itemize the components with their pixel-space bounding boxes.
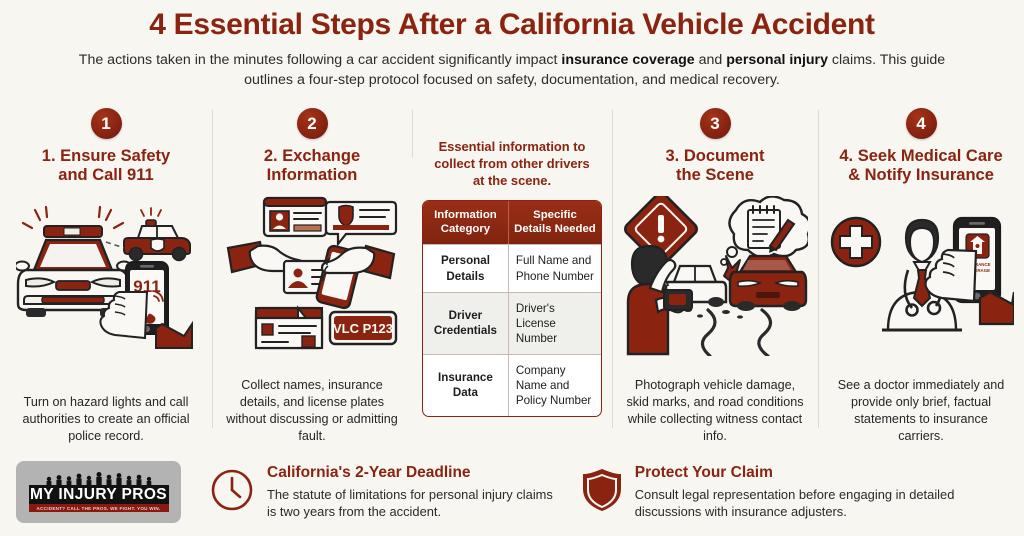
step-title-3-line1: 3. Document [665, 147, 764, 166]
info-table-header-row: Information Category Specific Details Ne… [423, 201, 601, 244]
info-table-header-category: Information Category [423, 201, 509, 244]
info-table-body: Personal Details Full Name and Phone Num… [423, 244, 601, 416]
footer-item-protect-claim: Protect Your Claim Consult legal represe… [581, 464, 1008, 520]
footer-deadline-body: The statute of limitations for personal … [267, 486, 559, 521]
step-title-1-line2: and Call 911 [42, 166, 170, 185]
table-intro-line2: collect from other drivers [434, 155, 589, 172]
step-title-2-line1: 2. Exchange [264, 147, 360, 166]
step-1-illustration: 911 [16, 196, 196, 356]
step-number-badge-4: 4 [906, 108, 937, 139]
id-card-icon [264, 198, 326, 236]
red-car-icon [730, 256, 806, 311]
person-photographing-icon [628, 246, 692, 354]
license-plate-icon: VLC P123 [330, 312, 396, 344]
header-details-line2: Details Needed [513, 223, 597, 237]
medical-cross-icon [832, 218, 880, 266]
step-caption-3: Photograph vehicle damage, skid marks, a… [622, 377, 808, 446]
clock-icon [209, 467, 255, 518]
table-intro: Essential information to collect from ot… [434, 138, 589, 189]
step-column-1: 1 1. Ensure Safety and Call 911 [0, 104, 212, 449]
shield-icon [581, 467, 623, 518]
insurance-card-icon [326, 202, 396, 244]
footer-deadline-text: California's 2-Year Deadline The statute… [267, 464, 559, 520]
info-table-header-details: Specific Details Needed [509, 201, 601, 244]
row-details: Company Name and Policy Number [509, 354, 601, 416]
subtitle-bold-personal-injury: personal injury [726, 52, 828, 68]
table-intro-line3: at the scene. [434, 172, 589, 189]
footer-protect-heading: Protect Your Claim [635, 464, 1008, 483]
police-car-icon [124, 208, 190, 261]
signal-dashes [106, 242, 124, 248]
step-title-1: 1. Ensure Safety and Call 911 [42, 147, 170, 186]
step-3-illustration [622, 196, 808, 361]
step-caption-1: Turn on hazard lights and call authoriti… [10, 394, 202, 445]
infographic-page: 4 Essential Steps After a California Veh… [0, 0, 1024, 536]
step-title-3-line2: the Scene [665, 166, 764, 185]
logo-name-bar: MY INJURY PROS [29, 485, 169, 504]
license-plate-text: VLC P123 [333, 321, 393, 336]
thought-bubble-notepad-icon [721, 196, 808, 265]
logo-tagline: ACCIDENT? CALL THE PROS. WE FIGHT. YOU W… [29, 504, 169, 512]
table-row: Insurance Data Company Name and Policy N… [423, 354, 601, 416]
step-number-badge-3: 3 [700, 108, 731, 139]
steps-row: 1 1. Ensure Safety and Call 911 [0, 104, 1024, 449]
crowd-silhouette-icon [39, 472, 159, 485]
header-details-line1: Specific [513, 209, 597, 223]
step-title-2: 2. Exchange Information [264, 147, 360, 186]
info-table-head: Information Category Specific Details Ne… [423, 201, 601, 244]
step-4-illustration: INSURANCE COVERAGE [828, 208, 1014, 348]
footer-protect-body: Consult legal representation before enga… [635, 486, 1008, 521]
row-category: Personal Details [423, 244, 509, 291]
footer-deadline-heading: California's 2-Year Deadline [267, 464, 559, 483]
header-category-line2: Category [427, 223, 504, 237]
logo-name: MY INJURY PROS [29, 487, 169, 503]
row-category: Driver Credentials [423, 292, 509, 354]
info-table: Information Category Specific Details Ne… [422, 200, 602, 417]
step-number-badge-2: 2 [297, 108, 328, 139]
step-2-illustration: VLC P123 [226, 196, 398, 361]
step-title-4-line2: & Notify Insurance [839, 166, 1002, 185]
center-info-panel: Essential information to collect from ot… [412, 104, 612, 449]
footer: MY INJURY PROS ACCIDENT? CALL THE PROS. … [0, 448, 1024, 536]
row-details: Full Name and Phone Number [509, 244, 601, 291]
row-category: Insurance Data [423, 354, 509, 416]
table-row: Personal Details Full Name and Phone Num… [423, 244, 601, 291]
company-logo[interactable]: MY INJURY PROS ACCIDENT? CALL THE PROS. … [16, 461, 181, 523]
header-category-line1: Information [427, 209, 504, 223]
table-row: Driver Credentials Driver's License Numb… [423, 292, 601, 354]
subtitle-part-2: and [695, 52, 727, 68]
document-card-icon [256, 308, 322, 348]
step-title-2-line2: Information [264, 166, 360, 185]
hand-holding-phone-icon [315, 245, 394, 310]
step-caption-4: See a doctor immediately and provide onl… [828, 377, 1014, 446]
step-title-3: 3. Document the Scene [665, 147, 764, 186]
subtitle-bold-insurance-coverage: insurance coverage [561, 52, 694, 68]
page-subtitle: The actions taken in the minutes followi… [72, 50, 952, 90]
header: 4 Essential Steps After a California Veh… [0, 0, 1024, 90]
page-title: 4 Essential Steps After a California Veh… [30, 8, 994, 41]
step-title-1-line1: 1. Ensure Safety [42, 147, 170, 166]
step-number-badge-1: 1 [91, 108, 122, 139]
step-caption-2: Collect names, insurance details, and li… [222, 377, 402, 446]
table-intro-line1: Essential information to [434, 138, 589, 155]
step-column-2: 2 2. Exchange Information [212, 104, 412, 449]
step-title-4: 4. Seek Medical Care & Notify Insurance [839, 147, 1002, 186]
footer-protect-text: Protect Your Claim Consult legal represe… [635, 464, 1008, 520]
subtitle-part-1: The actions taken in the minutes followi… [79, 52, 562, 68]
skid-marks-icon [702, 310, 770, 356]
step-column-3: 3 3. Document the Scene [612, 104, 818, 449]
step-column-4: 4 4. Seek Medical Care & Notify Insuranc… [818, 104, 1024, 449]
row-details: Driver's License Number [509, 292, 601, 354]
footer-item-deadline: California's 2-Year Deadline The statute… [209, 464, 559, 520]
step-title-4-line1: 4. Seek Medical Care [839, 147, 1002, 166]
